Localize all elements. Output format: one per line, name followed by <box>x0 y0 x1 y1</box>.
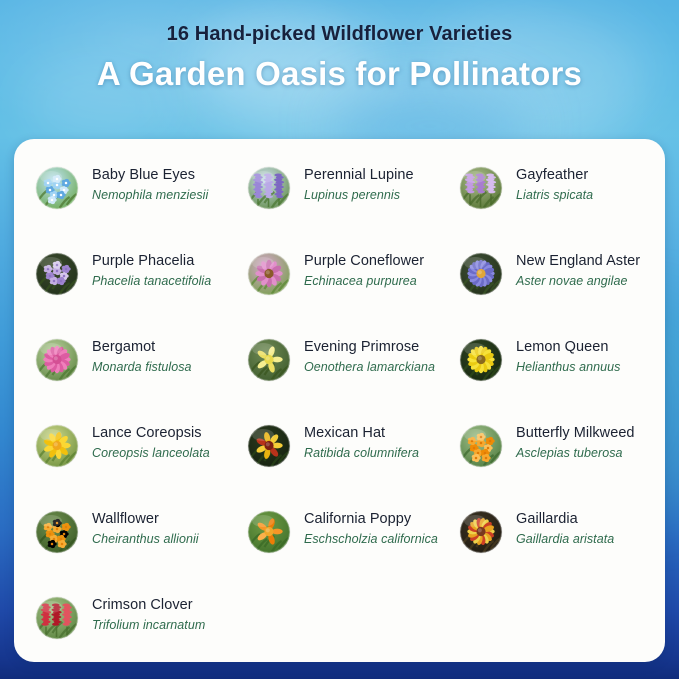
flower-text: Mexican HatRatibida columnifera <box>304 423 419 461</box>
flower-text: WallflowerCheiranthus allionii <box>92 509 199 547</box>
flower-entry[interactable]: Crimson CloverTrifolium incarnatum <box>36 595 241 639</box>
flower-common-name: Lance Coreopsis <box>92 424 210 443</box>
flower-text: Crimson CloverTrifolium incarnatum <box>92 595 205 633</box>
flower-entry[interactable]: California PoppyEschscholzia californica <box>248 509 453 553</box>
flower-scientific-name: Ratibida columnifera <box>304 445 419 461</box>
flower-common-name: Lemon Queen <box>516 338 620 357</box>
flower-common-name: Gayfeather <box>516 166 593 185</box>
page-title: A Garden Oasis for Pollinators <box>0 53 679 94</box>
flower-scientific-name: Phacelia tanacetifolia <box>92 273 211 289</box>
flower-common-name: Bergamot <box>92 338 192 357</box>
flower-entry[interactable]: Mexican HatRatibida columnifera <box>248 423 453 467</box>
flower-entry[interactable]: Purple PhaceliaPhacelia tanacetifolia <box>36 251 241 295</box>
flower-common-name: Gaillardia <box>516 510 614 529</box>
flower-entry[interactable]: Lance CoreopsisCoreopsis lanceolata <box>36 423 241 467</box>
flower-wallflower-thumb <box>36 511 78 553</box>
flower-lance-coreopsis-thumb <box>36 425 78 467</box>
flower-mexican-hat-thumb <box>248 425 290 467</box>
flower-common-name: Crimson Clover <box>92 596 205 615</box>
flower-text: Lance CoreopsisCoreopsis lanceolata <box>92 423 210 461</box>
flower-scientific-name: Helianthus annuus <box>516 359 620 375</box>
flower-common-name: New England Aster <box>516 252 640 271</box>
flower-entry[interactable]: Purple ConeflowerEchinacea purpurea <box>248 251 453 295</box>
flower-text: BergamotMonarda fistulosa <box>92 337 192 375</box>
flower-entry[interactable]: Lemon QueenHelianthus annuus <box>460 337 665 381</box>
flower-entry[interactable]: WallflowerCheiranthus allionii <box>36 509 241 553</box>
flower-entry[interactable]: GayfeatherLiatris spicata <box>460 165 665 209</box>
flower-entry[interactable]: Perennial LupineLupinus perennis <box>248 165 453 209</box>
poster: 16 Hand-picked Wildflower Varieties A Ga… <box>0 0 679 679</box>
flower-scientific-name: Liatris spicata <box>516 187 593 203</box>
flower-entry[interactable]: BergamotMonarda fistulosa <box>36 337 241 381</box>
flower-grid: Baby Blue EyesNemophila menziesii Perenn… <box>14 139 665 662</box>
flower-perennial-lupine-thumb <box>248 167 290 209</box>
eyebrow-text: 16 Hand-picked Wildflower Varieties <box>0 22 679 47</box>
flower-common-name: Purple Coneflower <box>304 252 424 271</box>
flower-scientific-name: Asclepias tuberosa <box>516 445 635 461</box>
flower-entry[interactable]: Evening PrimroseOenothera lamarckiana <box>248 337 453 381</box>
header: 16 Hand-picked Wildflower Varieties A Ga… <box>0 22 679 94</box>
flower-entry[interactable]: New England AsterAster novae angilae <box>460 251 665 295</box>
flower-scientific-name: Gaillardia aristata <box>516 531 614 547</box>
flower-scientific-name: Eschscholzia californica <box>304 531 438 547</box>
flower-common-name: Mexican Hat <box>304 424 419 443</box>
flower-text: Lemon QueenHelianthus annuus <box>516 337 620 375</box>
flower-entry[interactable]: GaillardiaGaillardia aristata <box>460 509 665 553</box>
flower-scientific-name: Lupinus perennis <box>304 187 414 203</box>
flower-crimson-clover-thumb <box>36 597 78 639</box>
flower-text: California PoppyEschscholzia californica <box>304 509 438 547</box>
flower-text: Baby Blue EyesNemophila menziesii <box>92 165 208 203</box>
flower-entry[interactable]: Baby Blue EyesNemophila menziesii <box>36 165 241 209</box>
flower-scientific-name: Cheiranthus allionii <box>92 531 199 547</box>
flower-butterfly-milkweed-thumb <box>460 425 502 467</box>
flower-purple-coneflower-thumb <box>248 253 290 295</box>
flower-common-name: California Poppy <box>304 510 438 529</box>
flower-scientific-name: Echinacea purpurea <box>304 273 424 289</box>
flower-common-name: Evening Primrose <box>304 338 435 357</box>
flower-common-name: Baby Blue Eyes <box>92 166 208 185</box>
flower-common-name: Purple Phacelia <box>92 252 211 271</box>
flower-list-card: Baby Blue EyesNemophila menziesii Perenn… <box>14 139 665 662</box>
flower-text: Butterfly MilkweedAsclepias tuberosa <box>516 423 635 461</box>
flower-common-name: Butterfly Milkweed <box>516 424 635 443</box>
flower-text: Purple ConeflowerEchinacea purpurea <box>304 251 424 289</box>
flower-california-poppy-thumb <box>248 511 290 553</box>
flower-text: GaillardiaGaillardia aristata <box>516 509 614 547</box>
flower-common-name: Wallflower <box>92 510 199 529</box>
flower-new-england-aster-thumb <box>460 253 502 295</box>
flower-entry[interactable]: Butterfly MilkweedAsclepias tuberosa <box>460 423 665 467</box>
flower-text: Evening PrimroseOenothera lamarckiana <box>304 337 435 375</box>
flower-gaillardia-thumb <box>460 511 502 553</box>
flower-scientific-name: Monarda fistulosa <box>92 359 192 375</box>
flower-text: GayfeatherLiatris spicata <box>516 165 593 203</box>
flower-bergamot-thumb <box>36 339 78 381</box>
flower-text: Perennial LupineLupinus perennis <box>304 165 414 203</box>
flower-scientific-name: Nemophila menziesii <box>92 187 208 203</box>
flower-lemon-queen-thumb <box>460 339 502 381</box>
flower-scientific-name: Trifolium incarnatum <box>92 617 205 633</box>
flower-purple-phacelia-thumb <box>36 253 78 295</box>
flower-text: New England AsterAster novae angilae <box>516 251 640 289</box>
flower-text: Purple PhaceliaPhacelia tanacetifolia <box>92 251 211 289</box>
flower-common-name: Perennial Lupine <box>304 166 414 185</box>
flower-scientific-name: Oenothera lamarckiana <box>304 359 435 375</box>
flower-evening-primrose-thumb <box>248 339 290 381</box>
flower-gayfeather-thumb <box>460 167 502 209</box>
flower-scientific-name: Aster novae angilae <box>516 273 640 289</box>
flower-scientific-name: Coreopsis lanceolata <box>92 445 210 461</box>
flower-baby-blue-eyes-thumb <box>36 167 78 209</box>
